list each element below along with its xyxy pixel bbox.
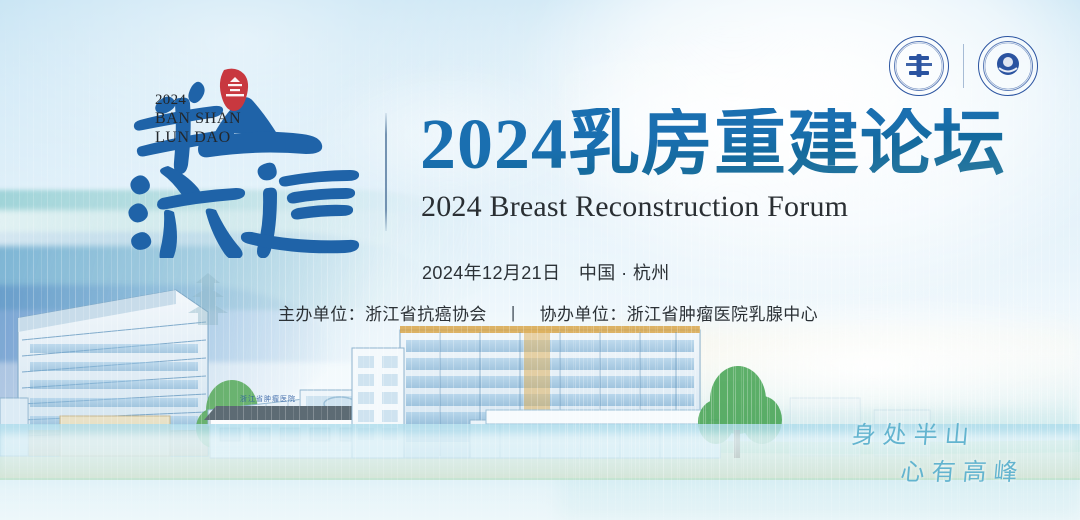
brand-romanization-block: 2024 BAN SHAN LUN DAO (155, 92, 241, 147)
brand-calligraphy-logo (118, 58, 388, 258)
slogan-line-2: 心有高峰 (899, 455, 1026, 492)
page-title: 2024乳房重建论坛 (420, 108, 1006, 180)
brand-romanization-line1: BAN SHAN (155, 110, 241, 129)
pagoda-silhouette-icon (186, 271, 230, 332)
host-text: 主办单位：浙江省抗癌协会 (278, 300, 487, 325)
conference-poster: 浙江省肿瘤医院 (0, 0, 1080, 520)
slogan: 身处半山 心有高峰 (847, 418, 1030, 492)
zhejiang-cancer-hospital-logo (978, 36, 1038, 96)
slogan-line-1: 身处半山 (851, 423, 977, 449)
logo-row (889, 36, 1038, 96)
logo-divider (963, 44, 964, 88)
brand-year: 2024 (155, 92, 241, 110)
building-signage: 浙江省肿瘤医院 (240, 394, 296, 404)
organizer-separator: | (511, 303, 516, 323)
brand-romanization-line2: LUN DAO (155, 129, 241, 148)
page-subtitle: 2024 Breast Reconstruction Forum (421, 190, 848, 224)
zhejiang-anti-cancer-association-logo (889, 36, 949, 96)
organizer-line: 主办单位：浙江省抗癌协会 | 协办单位：浙江省肿瘤医院乳腺中心 (278, 300, 818, 325)
cohost-text: 协办单位：浙江省肿瘤医院乳腺中心 (540, 300, 818, 325)
event-date-location: 2024年12月21日 中国 · 杭州 (422, 259, 670, 285)
title-divider (385, 113, 387, 231)
